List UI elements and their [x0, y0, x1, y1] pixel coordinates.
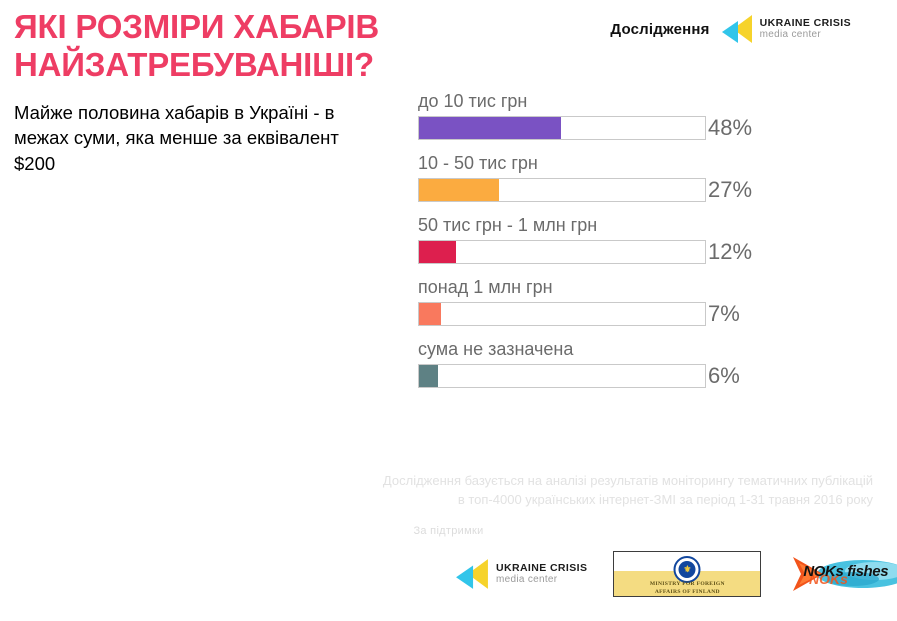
noks-fishes-wordmark: NOKs fishes — [803, 563, 888, 580]
page-title: ЯКІ РОЗМІРИ ХАБАРІВ НАЙЗАТРЕБУВАНІШІ? — [14, 8, 494, 83]
bar-line: 6% — [418, 364, 838, 388]
ucmc-subtitle: media center — [496, 574, 587, 585]
ucmc-name: UKRAINE CRISIS — [496, 563, 587, 575]
ucmc-arrow-icon — [455, 558, 489, 590]
bar-track — [418, 178, 706, 202]
bar-value: 6% — [708, 365, 740, 387]
bar-chart: до 10 тис грн 48% 10 - 50 тис грн 27% 50… — [418, 92, 838, 402]
support-label: За підтримки — [0, 525, 897, 537]
header-kicker-label: Дослідження — [610, 21, 709, 38]
bar-group: до 10 тис грн 48% — [418, 92, 838, 140]
lead-paragraph: Майже половина хабарів в Україні - в меж… — [14, 100, 374, 176]
finland-line-2: AFFAIRS OF FINLAND — [614, 589, 760, 597]
bar-value: 12% — [708, 241, 752, 263]
footnote-line-1: Дослідження базується на аналізі результ… — [0, 472, 873, 491]
bar-label: 50 тис грн - 1 млн грн — [418, 216, 838, 234]
bar-label: до 10 тис грн — [418, 92, 838, 110]
finland-ministry-logo: ⚜ MINISTRY FOR FOREIGN AFFAIRS OF FINLAN… — [613, 551, 761, 597]
bar-track — [418, 364, 706, 388]
ucmc-arrow-icon — [721, 14, 753, 44]
bar-label: 10 - 50 тис грн — [418, 154, 838, 172]
finland-line-1: MINISTRY FOR FOREIGN — [614, 581, 760, 589]
bar-value: 48% — [708, 117, 752, 139]
bar-group: 50 тис грн - 1 млн грн 12% — [418, 216, 838, 264]
bar-value: 7% — [708, 303, 740, 325]
footnote-line-2: в топ-4000 українських інтернет-ЗМІ за п… — [0, 491, 873, 510]
bar-fill — [419, 303, 441, 325]
bar-track — [418, 302, 706, 326]
bar-track — [418, 240, 706, 264]
ucmc-name: UKRAINE CRISIS — [760, 18, 851, 30]
bar-fill — [419, 179, 499, 201]
ukraine-crisis-media-center-logo: UKRAINE CRISIS media center — [721, 14, 851, 44]
bar-value: 27% — [708, 179, 752, 201]
ucmc-wordmark: UKRAINE CRISIS media center — [496, 563, 587, 586]
finland-ministry-wordmark: MINISTRY FOR FOREIGN AFFAIRS OF FINLAND — [614, 581, 760, 596]
footer-logos: UKRAINE CRISIS media center ⚜ MINISTRY F… — [455, 544, 895, 604]
bar-line: 48% — [418, 116, 838, 140]
footer-ukraine-crisis-media-center-logo: UKRAINE CRISIS media center — [455, 558, 587, 590]
bar-fill — [419, 241, 456, 263]
finland-coat-of-arms-icon: ⚜ — [674, 556, 701, 583]
ucmc-subtitle: media center — [760, 29, 851, 40]
header-brand: Дослідження UKRAINE CRISIS media center — [610, 14, 851, 44]
bar-line: 7% — [418, 302, 838, 326]
bar-fill — [419, 117, 561, 139]
finland-crest-glyph: ⚜ — [679, 561, 696, 578]
methodology-footnote: Дослідження базується на аналізі результ… — [0, 472, 873, 510]
bar-label: понад 1 млн грн — [418, 278, 838, 296]
ucmc-wordmark: UKRAINE CRISIS media center — [760, 18, 851, 41]
bar-fill — [419, 365, 438, 387]
header: ЯКІ РОЗМІРИ ХАБАРІВ НАЙЗАТРЕБУВАНІШІ? До… — [0, 0, 897, 90]
noks-fishes-logo: NOKs NOKs fishes — [787, 552, 897, 596]
bar-line: 27% — [418, 178, 838, 202]
bar-group: 10 - 50 тис грн 27% — [418, 154, 838, 202]
bar-track — [418, 116, 706, 140]
bar-group: понад 1 млн грн 7% — [418, 278, 838, 326]
bar-group: сума не зазначена 6% — [418, 340, 838, 388]
bar-label: сума не зазначена — [418, 340, 838, 358]
bar-line: 12% — [418, 240, 838, 264]
